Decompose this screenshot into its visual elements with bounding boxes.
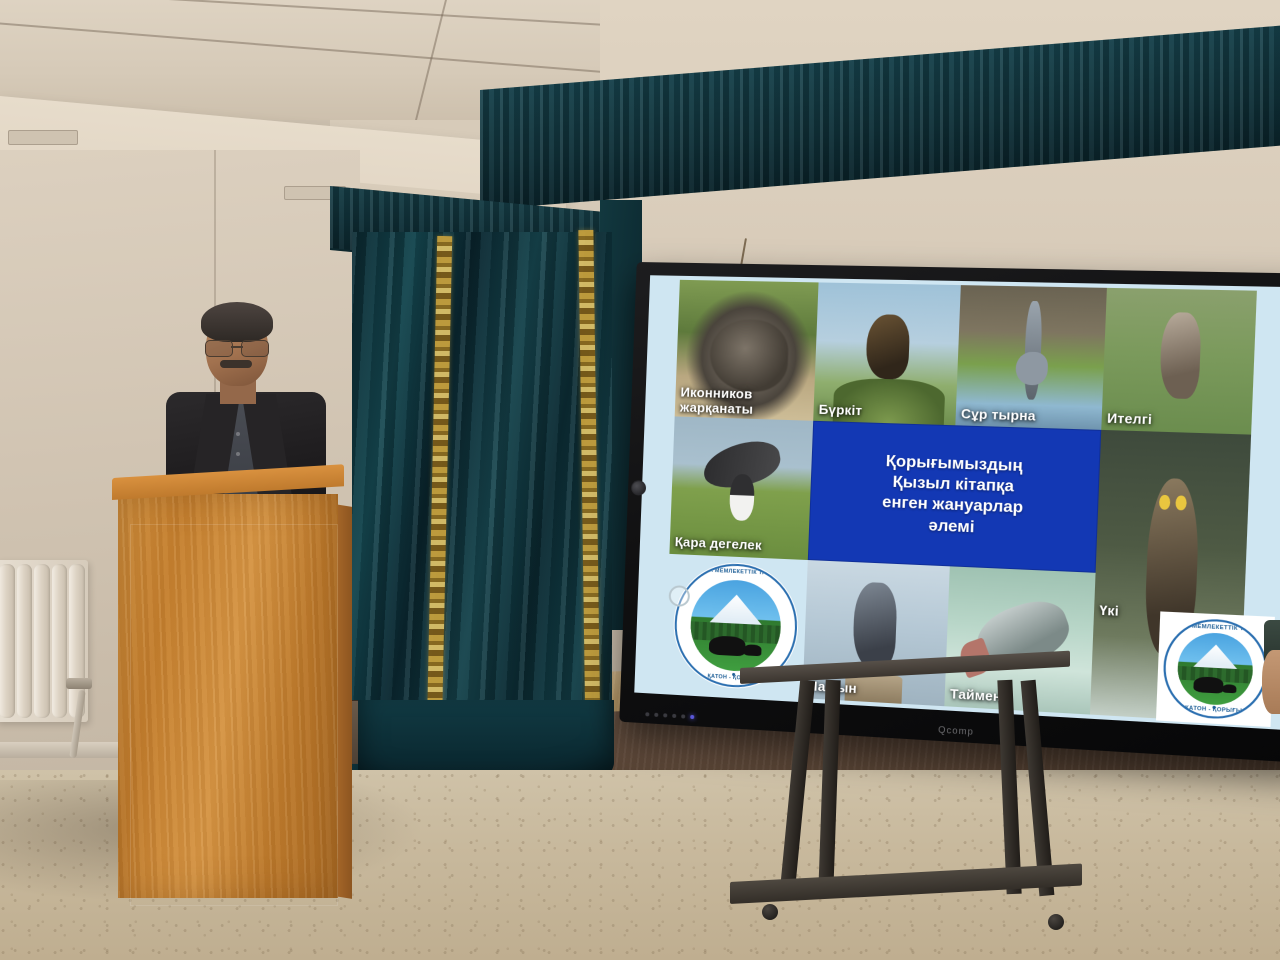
speaker-hair: [201, 302, 273, 342]
slide-cell-grey-crane: Сұр тырна: [955, 285, 1107, 430]
slide-title-text: Қорығымыздың Қызыл кітапқа енген жануарл…: [875, 449, 1032, 543]
speaker-mustache: [220, 360, 252, 368]
display-status-leds: [645, 712, 694, 719]
slide-cell-saker-falcon: Ителгі: [1101, 288, 1257, 435]
podium-front-panel: [118, 494, 338, 898]
bystander-hand: [1262, 650, 1280, 714]
cart-caster-right: [1048, 914, 1064, 930]
slide-cell-black-stork: Қара дегелек: [669, 417, 813, 560]
cart-caster-left: [762, 904, 778, 920]
presentation-room-photo: Иконниковжарқанаты Бүркіт Сұр тырна Ител…: [0, 0, 1280, 960]
emblem-text-top: АЛТАЙ МЕМЛЕКЕТТІК ТАБИҒИ: [678, 567, 797, 579]
radiator-valve: [66, 678, 92, 689]
rolling-tv-cart: [730, 668, 1082, 940]
eyeglasses-icon: [205, 340, 269, 355]
wall-radiator: [0, 560, 88, 722]
reserve-emblem-icon-right: АЛТАЙ МЕМЛЕКЕТТІК ТАБИҒИ ҚАТОН - ҚОРЫҒЫ: [1162, 617, 1269, 721]
slide-title-block: Қорығымыздың Қызыл кітапқа енген жануарл…: [808, 421, 1101, 572]
baseboard: [0, 742, 120, 758]
slide-cell-golden-eagle: Бүркіт: [813, 282, 961, 425]
wooden-podium: [112, 478, 344, 898]
emblem-right-text-top: АЛТАЙ МЕМЛЕКЕТТІК ТАБИҒИ: [1168, 622, 1267, 633]
reserve-emblem-right-card: АЛТАЙ МЕМЛЕКЕТТІК ТАБИҒИ ҚАТОН - ҚОРЫҒЫ: [1156, 611, 1275, 727]
ceiling-vent-left: [8, 130, 78, 145]
caption-ikonnikov-bat: Иконниковжарқанаты: [680, 386, 811, 419]
slide-cell-ikonnikov-bat: Иконниковжарқанаты: [675, 280, 819, 421]
